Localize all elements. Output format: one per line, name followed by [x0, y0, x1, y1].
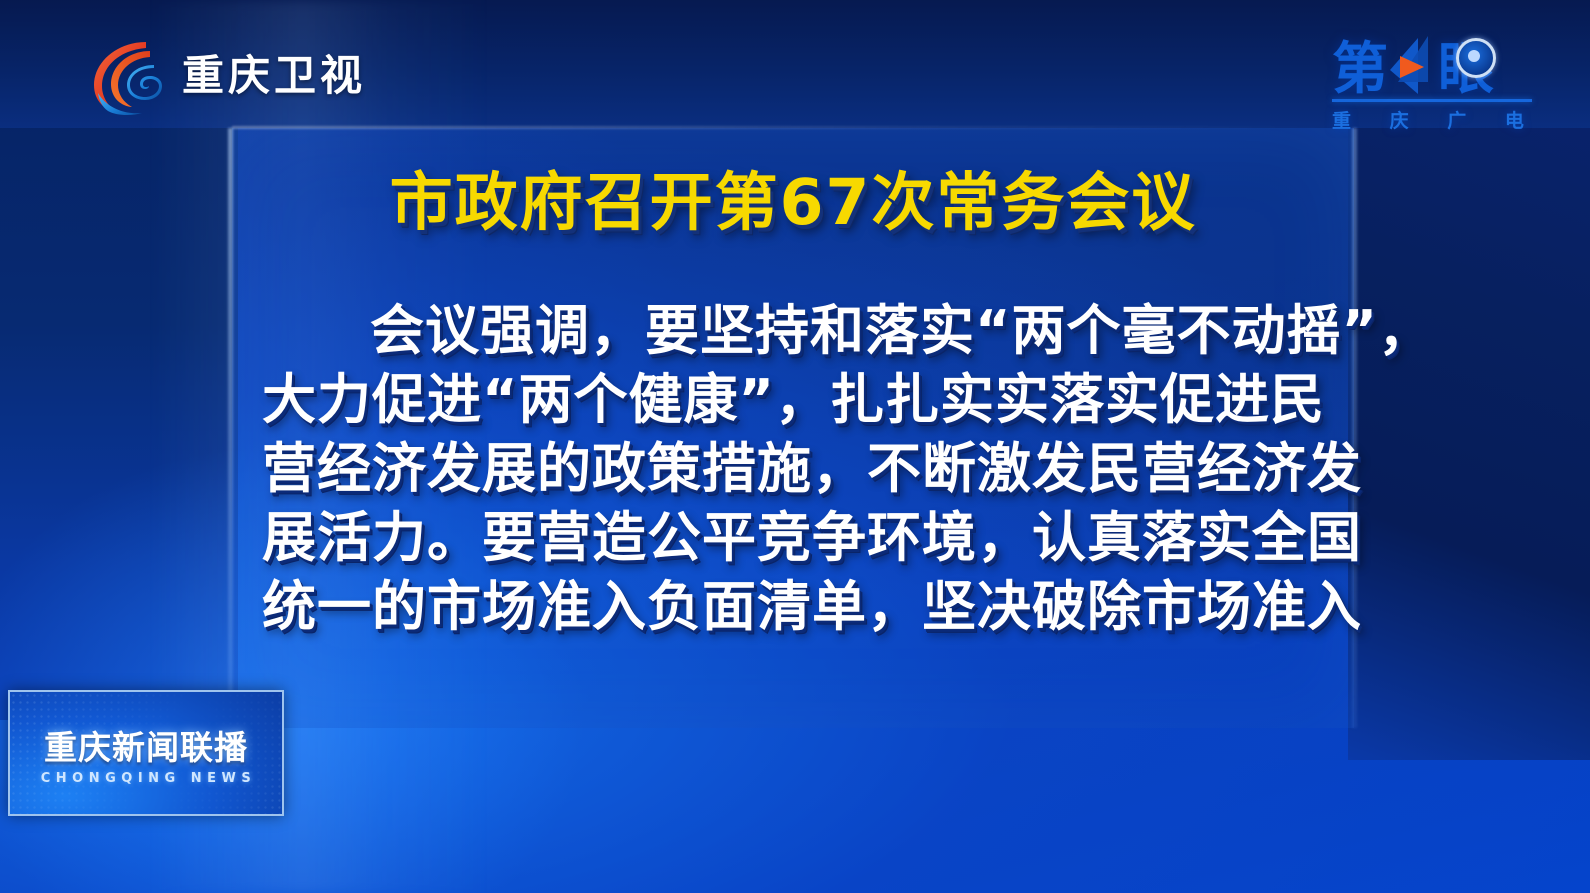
- broadcast-screen: 重庆卫视 第 眼 重 庆 广 电 市政府召开第67次常务会议 会议强调，要坚持和…: [0, 0, 1590, 893]
- program-bug-content: 重庆新闻联播 CHONGQING NEWS: [10, 692, 282, 814]
- body-line: 大力促进“两个健康”，扎扎实实落实促进民: [262, 365, 1317, 434]
- chongqing-tv-swoosh-icon: [84, 35, 168, 117]
- body-line: 统一的市场准入负面清单，坚决破除市场准入: [262, 572, 1317, 641]
- body-text: 会议强调，要坚持和落实“两个毫不动摇”， 大力促进“两个健康”，扎扎实实落实促进…: [262, 296, 1317, 641]
- program-bug-title: 重庆新闻联播: [44, 721, 248, 769]
- content-panel-top-edge: [232, 126, 1354, 129]
- corner-logo: 第 眼 重 庆 广 电: [1332, 34, 1532, 134]
- channel-logo: 重庆卫视: [84, 33, 354, 119]
- channel-logo-text: 重庆卫视: [182, 55, 366, 97]
- corner-logo-di: 第: [1332, 44, 1386, 96]
- corner-logo-subtitle: 重 庆 广 电: [1332, 106, 1532, 133]
- program-bug: 重庆新闻联播 CHONGQING NEWS: [8, 690, 284, 816]
- corner-logo-yan: 眼: [1438, 44, 1492, 96]
- body-line: 营经济发展的政策措施，不断激发民营经济发: [262, 434, 1317, 503]
- corner-logo-row: 第 眼: [1332, 34, 1532, 96]
- page-title: 市政府召开第67次常务会议: [232, 168, 1354, 237]
- body-line: 展活力。要营造公平竞争环境，认真落实全国: [262, 503, 1317, 572]
- program-bug-subtitle: CHONGQING NEWS: [36, 771, 256, 786]
- numeral-one-play-icon: [1384, 36, 1436, 96]
- body-line: 会议强调，要坚持和落实“两个毫不动摇”，: [262, 296, 1317, 365]
